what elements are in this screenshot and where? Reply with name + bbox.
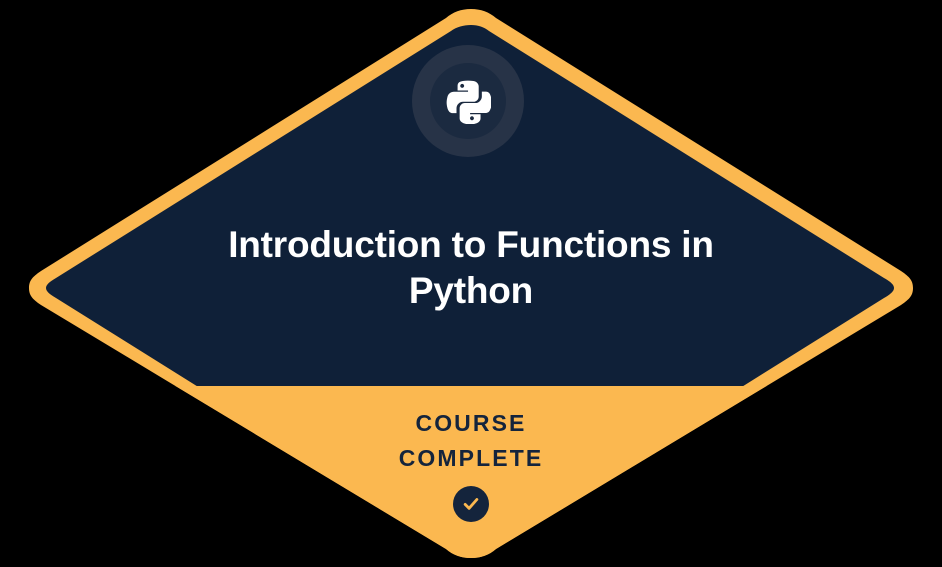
badge-stage: Introduction to Functions in Python COUR… — [0, 0, 942, 567]
completion-check-badge — [453, 486, 489, 522]
completion-status: COURSE COMPLETE — [221, 406, 721, 522]
check-mark-icon — [461, 494, 481, 514]
course-title: Introduction to Functions in Python — [171, 222, 771, 314]
status-line-course: COURSE — [221, 406, 721, 441]
python-logo-icon — [445, 78, 491, 124]
python-emblem — [412, 45, 524, 157]
status-line-complete: COMPLETE — [221, 441, 721, 476]
